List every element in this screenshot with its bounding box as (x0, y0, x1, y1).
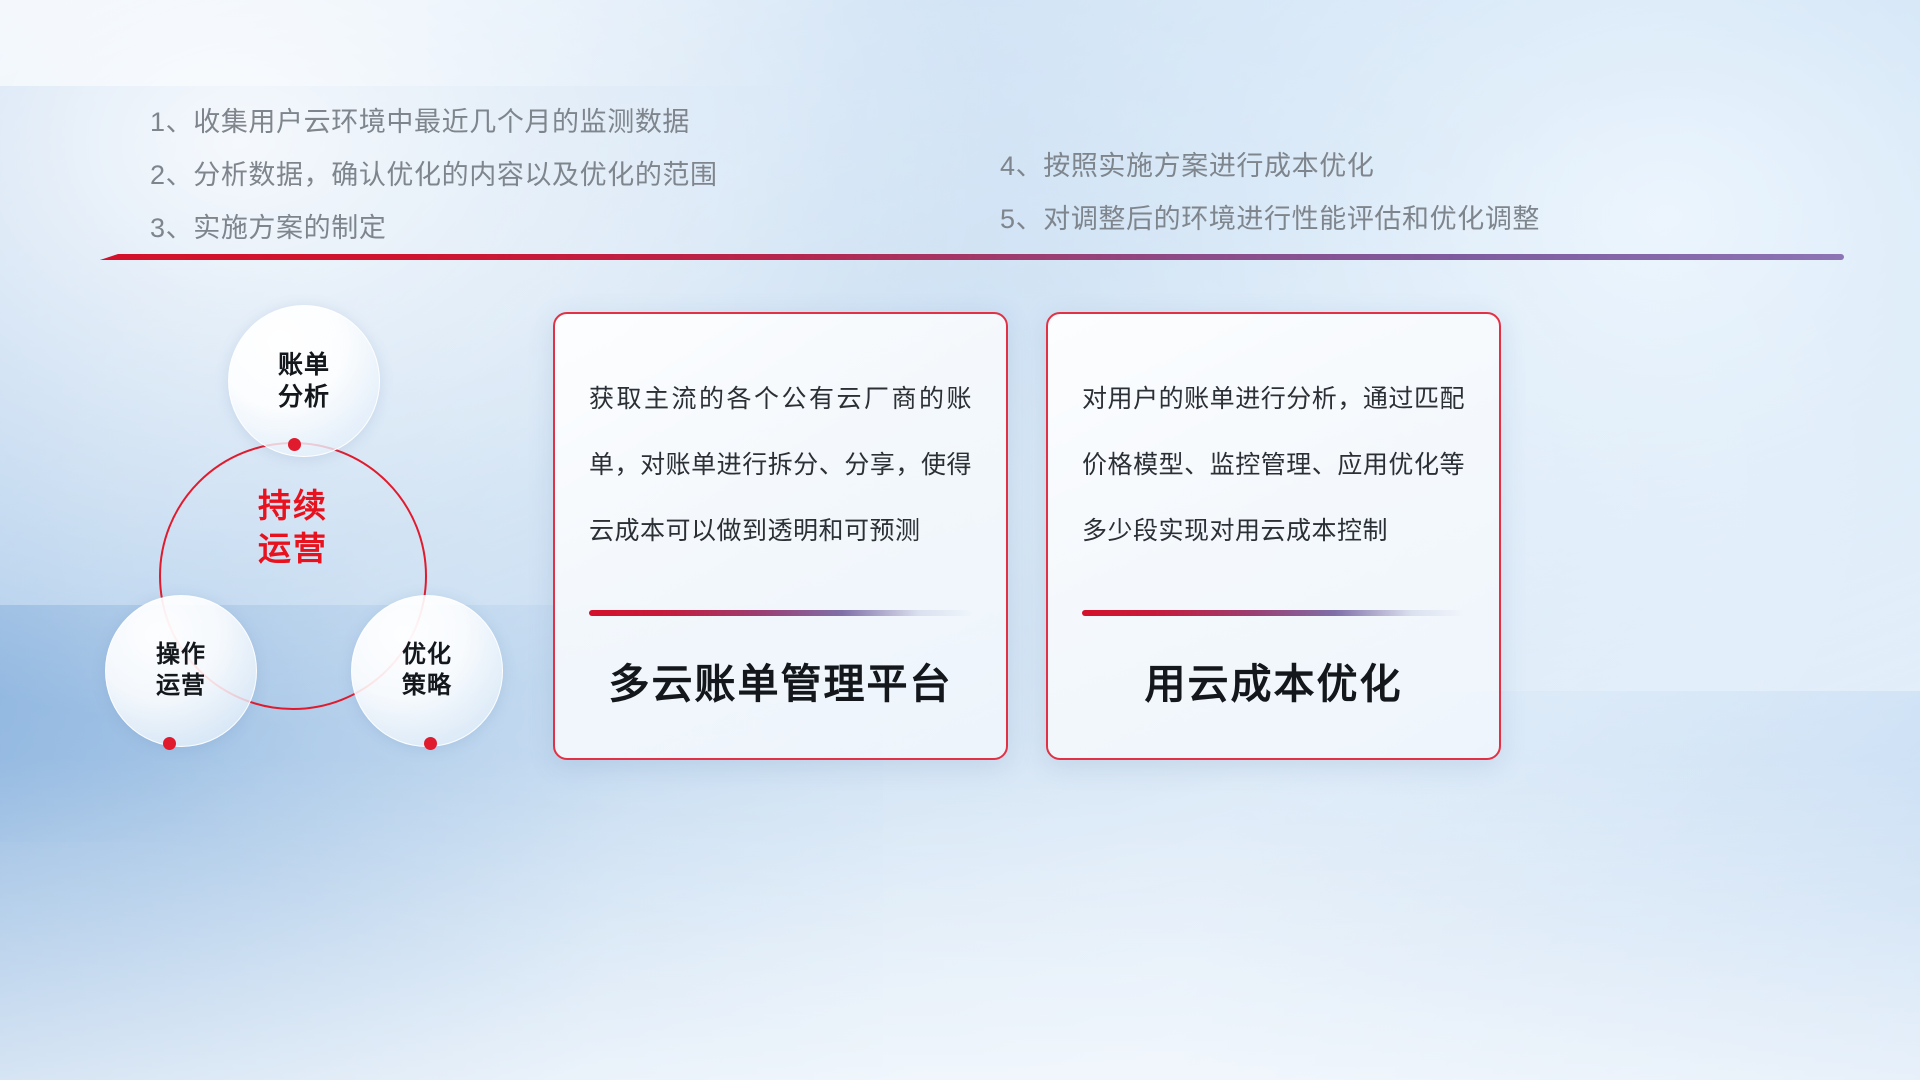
venn-center-label-line2: 运营 (233, 528, 353, 571)
venn-label-line2: 运营 (156, 671, 206, 702)
feature-card-cloud-cost-optimization[interactable]: 对用户的账单进行分析，通过匹配价格模型、监控管理、应用优化等多少段实现对用云成本… (1046, 312, 1501, 760)
venn-center-label-line1: 持续 (233, 485, 353, 528)
divider-gradient-bar (100, 254, 1844, 260)
venn-node-dot-top (288, 438, 301, 451)
step-item-5: 5、对调整后的环境进行性能评估和优化调整 (1000, 193, 1540, 246)
card-title: 多云账单管理平台 (589, 616, 972, 758)
venn-circle-label: 账单 分析 (278, 349, 330, 413)
step-item-2: 2、分析数据，确认优化的内容以及优化的范围 (150, 149, 718, 202)
venn-label-line2: 策略 (402, 671, 452, 702)
step-item-1: 1、收集用户云环境中最近几个月的监测数据 (150, 96, 718, 149)
steps-list-right: 4、按照实施方案进行成本优化 5、对调整后的环境进行性能评估和优化调整 (1000, 140, 1540, 246)
venn-circle-label: 优化 策略 (402, 640, 452, 701)
venn-label-line1: 账单 (278, 349, 330, 381)
feature-card-multicloud-billing[interactable]: 获取主流的各个公有云厂商的账单，对账单进行拆分、分享，使得云成本可以做到透明和可… (553, 312, 1008, 760)
section-divider (100, 252, 1844, 264)
venn-label-line2: 分析 (278, 381, 330, 413)
card-title: 用云成本优化 (1082, 616, 1465, 758)
step-item-4: 4、按照实施方案进行成本优化 (1000, 140, 1540, 193)
venn-node-dot-right (424, 737, 437, 750)
venn-diagram: 持续 运营 账单 分析 操作 运营 优化 策略 (85, 295, 555, 765)
card-body-text: 获取主流的各个公有云厂商的账单，对账单进行拆分、分享，使得云成本可以做到透明和可… (589, 366, 972, 564)
card-body-text: 对用户的账单进行分析，通过匹配价格模型、监控管理、应用优化等多少段实现对用云成本… (1082, 366, 1465, 564)
venn-center-label: 持续 运营 (233, 485, 353, 571)
venn-circle-optimization-strategy[interactable]: 优化 策略 (351, 595, 503, 747)
venn-label-line1: 操作 (156, 640, 206, 671)
venn-circle-label: 操作 运营 (156, 640, 206, 701)
venn-node-dot-left (163, 737, 176, 750)
step-item-3: 3、实施方案的制定 (150, 202, 718, 255)
venn-circle-billing-analysis[interactable]: 账单 分析 (228, 305, 380, 457)
venn-label-line1: 优化 (402, 640, 452, 671)
venn-circle-operations[interactable]: 操作 运营 (105, 595, 257, 747)
steps-list-left: 1、收集用户云环境中最近几个月的监测数据 2、分析数据，确认优化的内容以及优化的… (150, 96, 718, 255)
